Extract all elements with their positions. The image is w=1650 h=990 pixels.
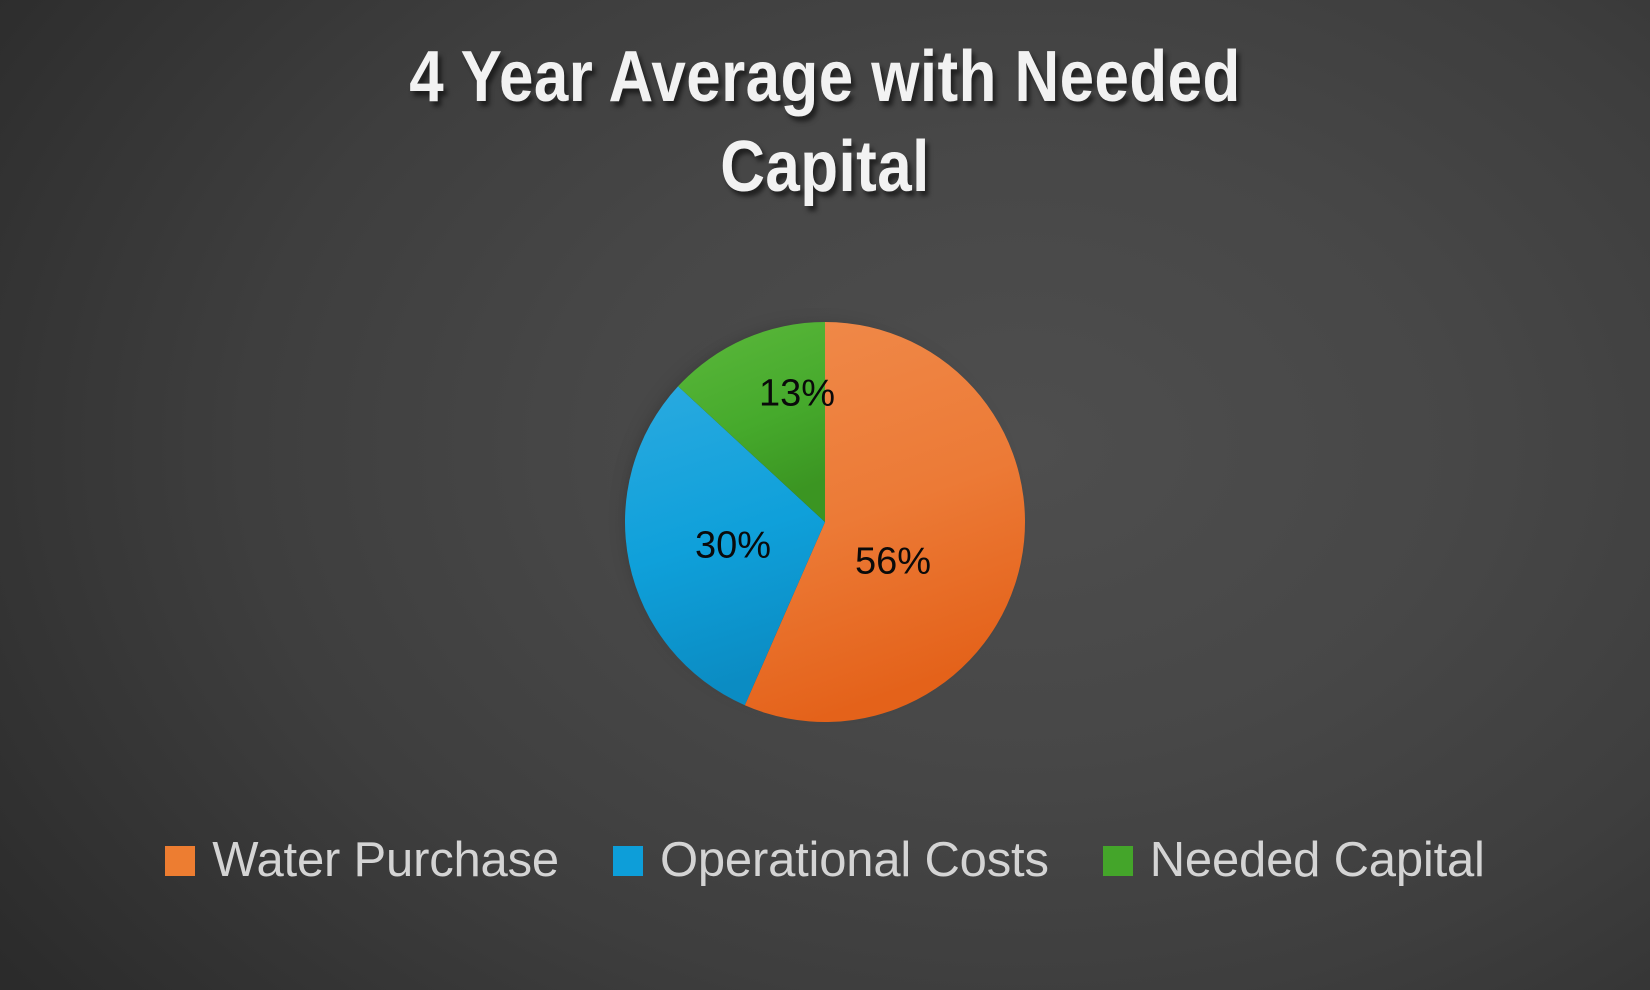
slice-label-needed-capital: 13% — [759, 373, 835, 416]
legend-item-label: Operational Costs — [660, 836, 1049, 885]
legend-swatch-icon — [613, 846, 643, 876]
legend-swatch-icon — [1103, 846, 1133, 876]
slice-label-operational-costs: 30% — [695, 525, 771, 568]
legend-item-label: Needed Capital — [1150, 836, 1485, 885]
legend-item-water-purchase[interactable]: Water Purchase — [165, 836, 559, 885]
legend-item-label: Water Purchase — [212, 836, 559, 885]
legend-item-needed-capital[interactable]: Needed Capital — [1103, 836, 1485, 885]
page-title: 4 Year Average with Needed Capital — [116, 32, 1535, 212]
slice-label-water-purchase: 56% — [855, 541, 931, 584]
legend-item-operational-costs[interactable]: Operational Costs — [613, 836, 1049, 885]
chart-canvas: 4 Year Average with Needed Capital — [0, 0, 1650, 990]
chart-legend: Water Purchase Operational Costs Needed … — [0, 836, 1650, 885]
legend-swatch-icon — [165, 846, 195, 876]
pie-chart: 56% 30% 13% — [625, 322, 1025, 722]
